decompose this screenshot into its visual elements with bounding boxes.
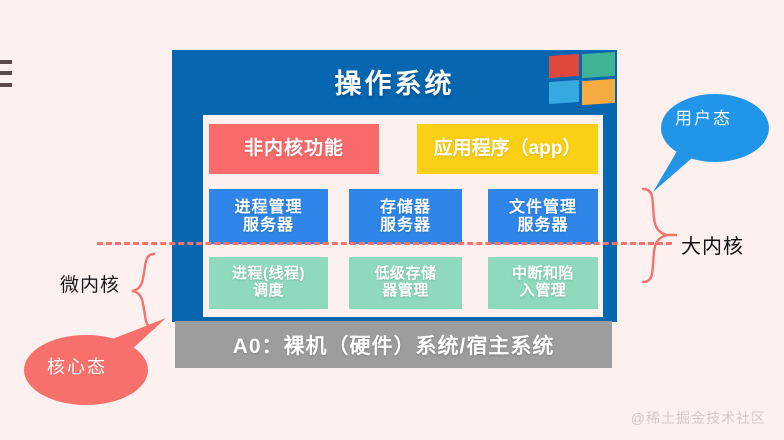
box-interrupt-and-trap-management: 中断和陷入管理 <box>488 257 598 309</box>
microkernel-brace-icon <box>128 252 158 330</box>
box-application-program: 应用程序（app） <box>417 124 598 174</box>
box-process-management-server: 进程管理服务器 <box>209 189 328 244</box>
box-storage-server: 存储器服务器 <box>349 189 462 244</box>
user-kernel-boundary-line <box>97 242 672 245</box>
box-file-management-server: 文件管理服务器 <box>488 189 598 244</box>
windows-logo-quadrant-top-right <box>582 52 615 78</box>
hardware-layer-bar: A0：裸机（硬件）系统/宿主系统 <box>175 321 612 368</box>
macrokernel-brace-icon <box>637 186 677 286</box>
diagram-canvas: 操作系统 非内核功能 应用程序（app） 进程管理服务器 存储器服务器 文件管理… <box>0 0 784 440</box>
hardware-layer-text: A0：裸机（硬件）系统/宿主系统 <box>233 335 555 358</box>
box-process-thread-scheduling: 进程(线程)调度 <box>209 257 328 309</box>
cropped-character-glyph <box>0 58 12 90</box>
watermark: @稀土掘金技术社区 <box>631 408 766 428</box>
user-mode-bubble-label: 用户态 <box>675 104 732 129</box>
box-low-level-storage-management: 低级存储器管理 <box>349 257 462 309</box>
hardware-layer-label: A0：裸机（硬件）系统/宿主系统 <box>233 330 555 360</box>
microkernel-label: 微内核 <box>60 270 120 297</box>
macrokernel-label: 大内核 <box>681 230 744 259</box>
windows-logo <box>549 53 615 105</box>
windows-logo-quadrant-bottom-right <box>582 79 615 105</box>
spellcheck-squiggle-icon <box>235 359 271 364</box>
kernel-mode-bubble-label: 核心态 <box>47 353 107 379</box>
box-non-kernel-function: 非内核功能 <box>209 124 379 174</box>
windows-logo-quadrant-bottom-left <box>549 80 579 104</box>
windows-logo-quadrant-top-left <box>549 54 579 78</box>
